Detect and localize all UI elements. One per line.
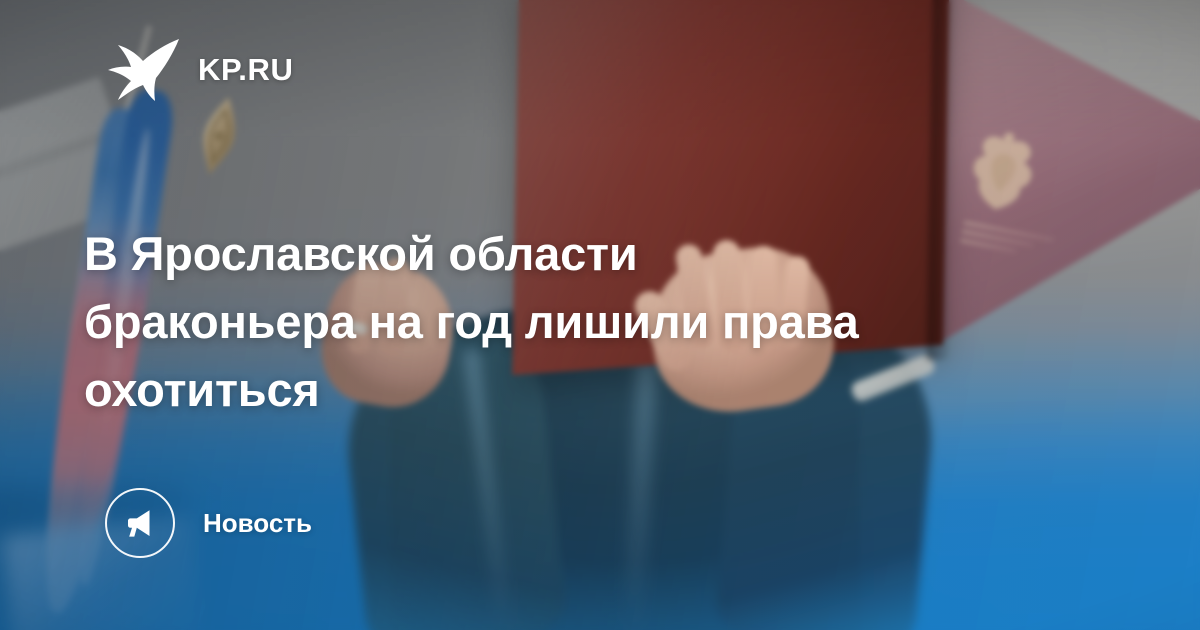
status-badge[interactable]: Новость <box>105 488 312 558</box>
brand-lockup[interactable]: KP.RU <box>106 36 293 102</box>
swallow-bird-icon <box>106 36 180 102</box>
badge-label: Новость <box>203 510 312 536</box>
headline: В Ярославской области браконьера на год … <box>84 220 1084 424</box>
brand-name: KP.RU <box>198 54 293 85</box>
card-content: KP.RU В Ярославской области браконьера н… <box>0 0 1200 630</box>
megaphone-icon <box>105 488 175 558</box>
news-share-card: KP.RU В Ярославской области браконьера н… <box>0 0 1200 630</box>
